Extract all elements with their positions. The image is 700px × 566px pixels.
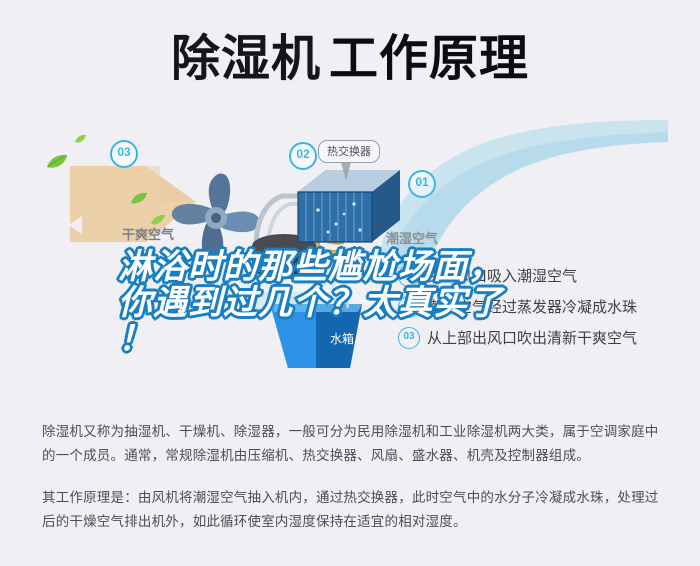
leaf-icon	[74, 134, 87, 144]
legend-list: 01 由进风口吸入潮湿空气 02 潮湿空气经过蒸发器冷凝成水珠 03 从上部出风…	[398, 260, 694, 353]
water-tank-icon	[244, 278, 394, 373]
article-body: 除湿机又称为抽湿机、干燥机、除湿器，一般可分为民用除湿机和工业除湿机两大类，属于…	[42, 420, 662, 552]
diagram-marker-01: 01	[408, 170, 436, 198]
legend-number: 03	[398, 327, 420, 349]
body-paragraph-2: 其工作原理是：由风机将潮湿空气抽入机内，通过热交换器，此时空气中的水分子冷凝成水…	[42, 486, 662, 534]
page-header: 除湿机工作原理	[0, 26, 700, 100]
legend-text: 由进风口吸入潮湿空气	[427, 265, 577, 286]
label-humid-air: 潮湿空气	[386, 228, 438, 247]
diagram-marker-02: 02	[289, 142, 317, 170]
legend-text: 潮湿空气经过蒸发器冷凝成水珠	[427, 296, 637, 317]
diagram-marker-03: 03	[110, 140, 138, 168]
legend-text: 从上部出风口吹出清新干爽空气	[427, 327, 637, 348]
body-paragraph-1: 除湿机又称为抽湿机、干燥机、除湿器，一般可分为民用除湿机和工业除湿机两大类，属于…	[42, 420, 662, 468]
diagram-stage: 03 02 01 热交换器 干爽空气 潮湿空气 水箱	[0, 118, 700, 400]
leaf-icon	[130, 192, 148, 205]
legend-item: 03 从上部出风口吹出清新干爽空气	[398, 322, 694, 353]
page-title-part1: 除湿机	[171, 32, 321, 86]
leaf-icon	[46, 154, 68, 170]
heat-exchanger-callout: 热交换器	[318, 140, 380, 163]
poster-root: 除湿机工作原理	[0, 0, 700, 566]
legend-number: 02	[398, 296, 420, 318]
label-water-tank: 水箱	[330, 330, 354, 347]
legend-item: 01 由进风口吸入潮湿空气	[398, 260, 694, 291]
label-dry-air: 干爽空气	[122, 224, 174, 243]
legend-number: 01	[398, 265, 420, 287]
page-title: 除湿机工作原理	[171, 26, 529, 92]
legend-item: 02 潮湿空气经过蒸发器冷凝成水珠	[398, 291, 694, 322]
page-title-part2: 工作原理	[329, 32, 529, 86]
